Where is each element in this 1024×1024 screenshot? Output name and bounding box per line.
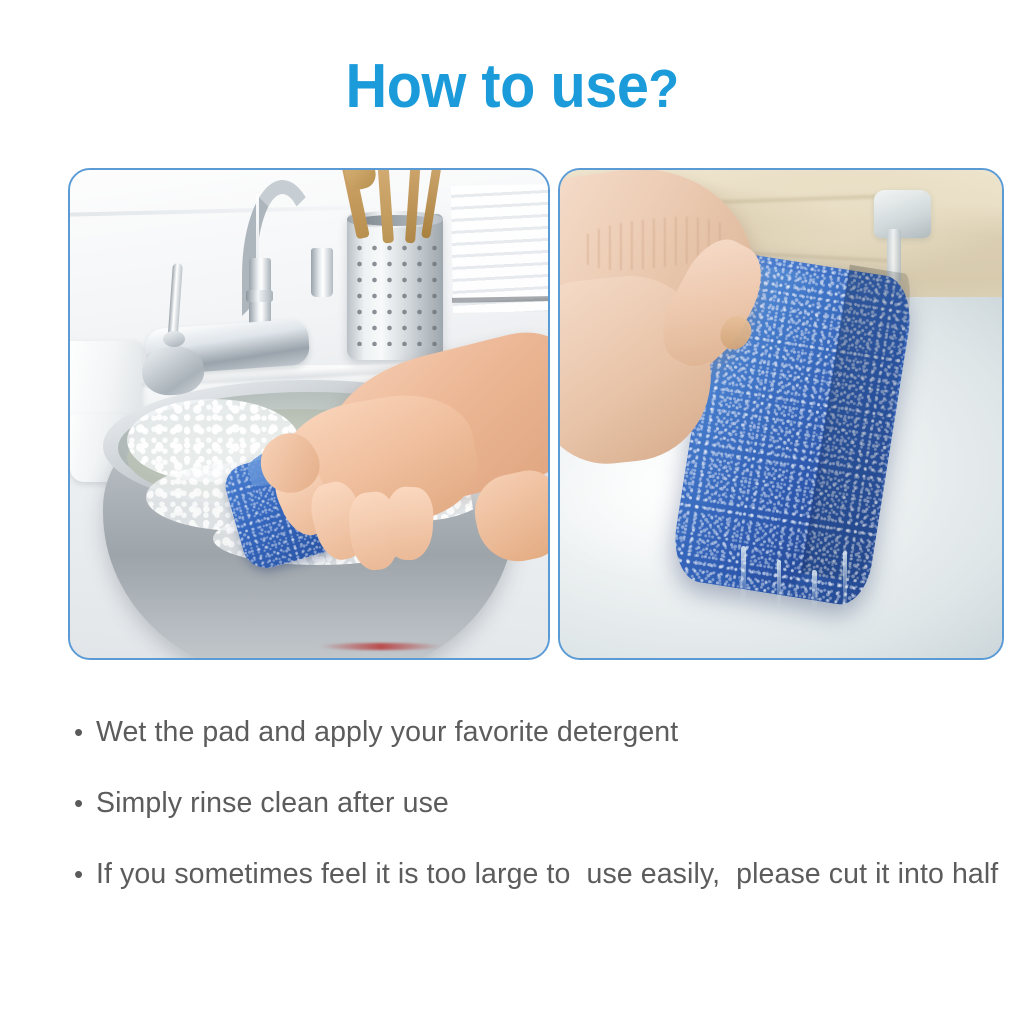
bullet-icon: • <box>74 854 96 894</box>
washing-pot-photo <box>68 168 550 660</box>
faucet-aerator <box>311 248 333 297</box>
instructions-list: • Wet the pad and apply your favorite de… <box>74 712 1004 925</box>
page-title-text: How to use <box>345 52 648 121</box>
utensil-holder-perforations <box>350 238 440 345</box>
page-title-container: How to use? <box>0 56 1024 118</box>
water-drip-4 <box>843 551 847 614</box>
rinsed-pad-scene <box>560 170 1002 658</box>
utensil-holder-inner-rim <box>357 215 433 226</box>
water-drip-3 <box>812 570 817 609</box>
instruction-text: Simply rinse clean after use <box>96 783 1004 823</box>
instruction-text: If you sometimes feel it is too large to… <box>96 854 1004 894</box>
page-title: How to use? <box>345 56 678 118</box>
bullet-icon: • <box>74 783 96 823</box>
list-item: • Wet the pad and apply your favorite de… <box>74 712 1004 752</box>
faucet-collar <box>246 290 273 302</box>
infographic-page: How to use? <box>0 0 1024 1024</box>
instruction-text: Wet the pad and apply your favorite dete… <box>96 712 1004 752</box>
list-item: • If you sometimes feel it is too large … <box>74 854 1004 894</box>
chrome-tap-head <box>874 190 931 239</box>
rinsed-pad-photo <box>558 168 1004 660</box>
page-title-question-mark: ? <box>648 59 678 119</box>
washing-pot-scene <box>70 170 548 658</box>
list-item: • Simply rinse clean after use <box>74 783 1004 823</box>
water-drip-1 <box>741 546 746 605</box>
bullet-icon: • <box>74 712 96 752</box>
background-shelf-slats <box>451 184 548 313</box>
water-drip-2 <box>777 560 781 609</box>
